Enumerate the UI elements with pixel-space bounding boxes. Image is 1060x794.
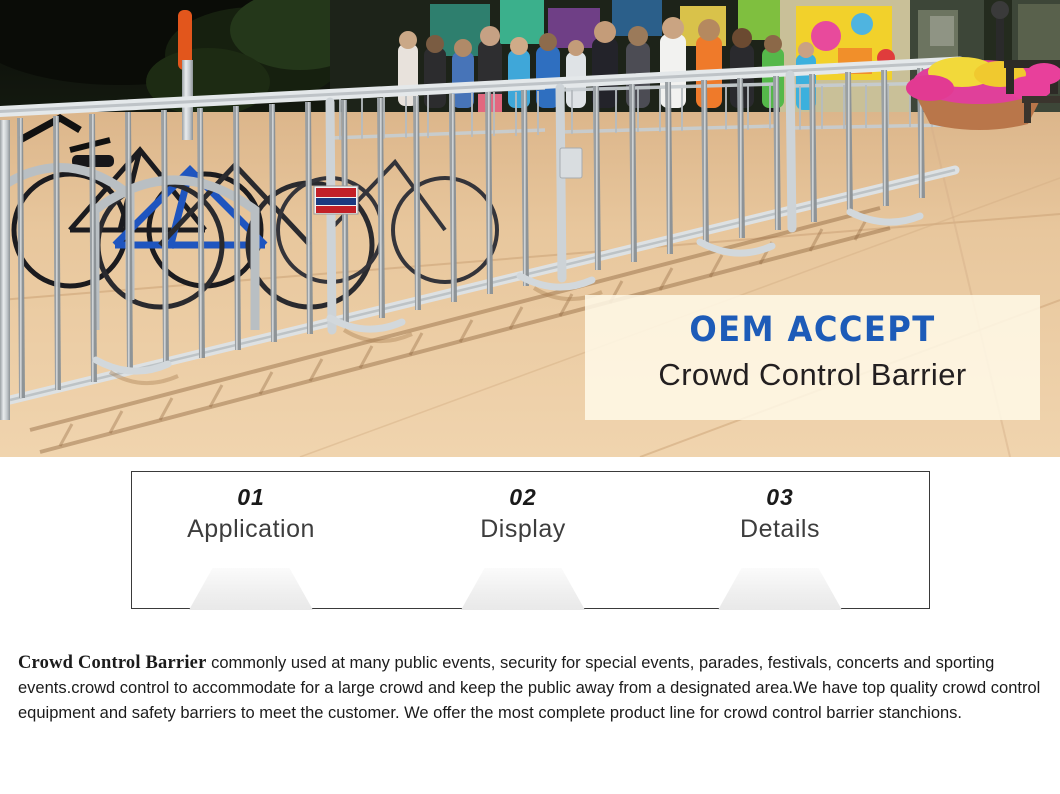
banner-subtitle: Crowd Control Barrier (585, 357, 1040, 393)
tab-display-trapezoid (461, 568, 585, 610)
banner-title: OEM ACCEPT (603, 310, 1022, 350)
product-description-lead: Crowd Control Barrier (18, 653, 207, 673)
tab-application-label: Application (151, 515, 351, 544)
tab-display[interactable]: 02 Display (423, 472, 623, 610)
tab-display-number: 02 (423, 484, 623, 511)
tab-details-label: Details (680, 515, 880, 544)
tab-display-label: Display (423, 515, 623, 544)
tab-application-number: 01 (151, 484, 351, 511)
tab-details-trapezoid (718, 568, 842, 610)
product-description: Crowd Control Barrier commonly used at m… (18, 651, 1048, 726)
tab-details-number: 03 (680, 484, 880, 511)
product-detail-page: OEM ACCEPT Crowd Control Barrier 01 Appl… (0, 0, 1060, 794)
oem-accept-banner: OEM ACCEPT Crowd Control Barrier (585, 295, 1040, 420)
tab-details[interactable]: 03 Details (680, 472, 880, 610)
section-nav-box: 01 Application 02 Display 03 Details (131, 471, 930, 609)
hero-product-photo: OEM ACCEPT Crowd Control Barrier (0, 0, 1060, 457)
tab-application[interactable]: 01 Application (151, 472, 351, 610)
tab-application-trapezoid (189, 568, 313, 610)
